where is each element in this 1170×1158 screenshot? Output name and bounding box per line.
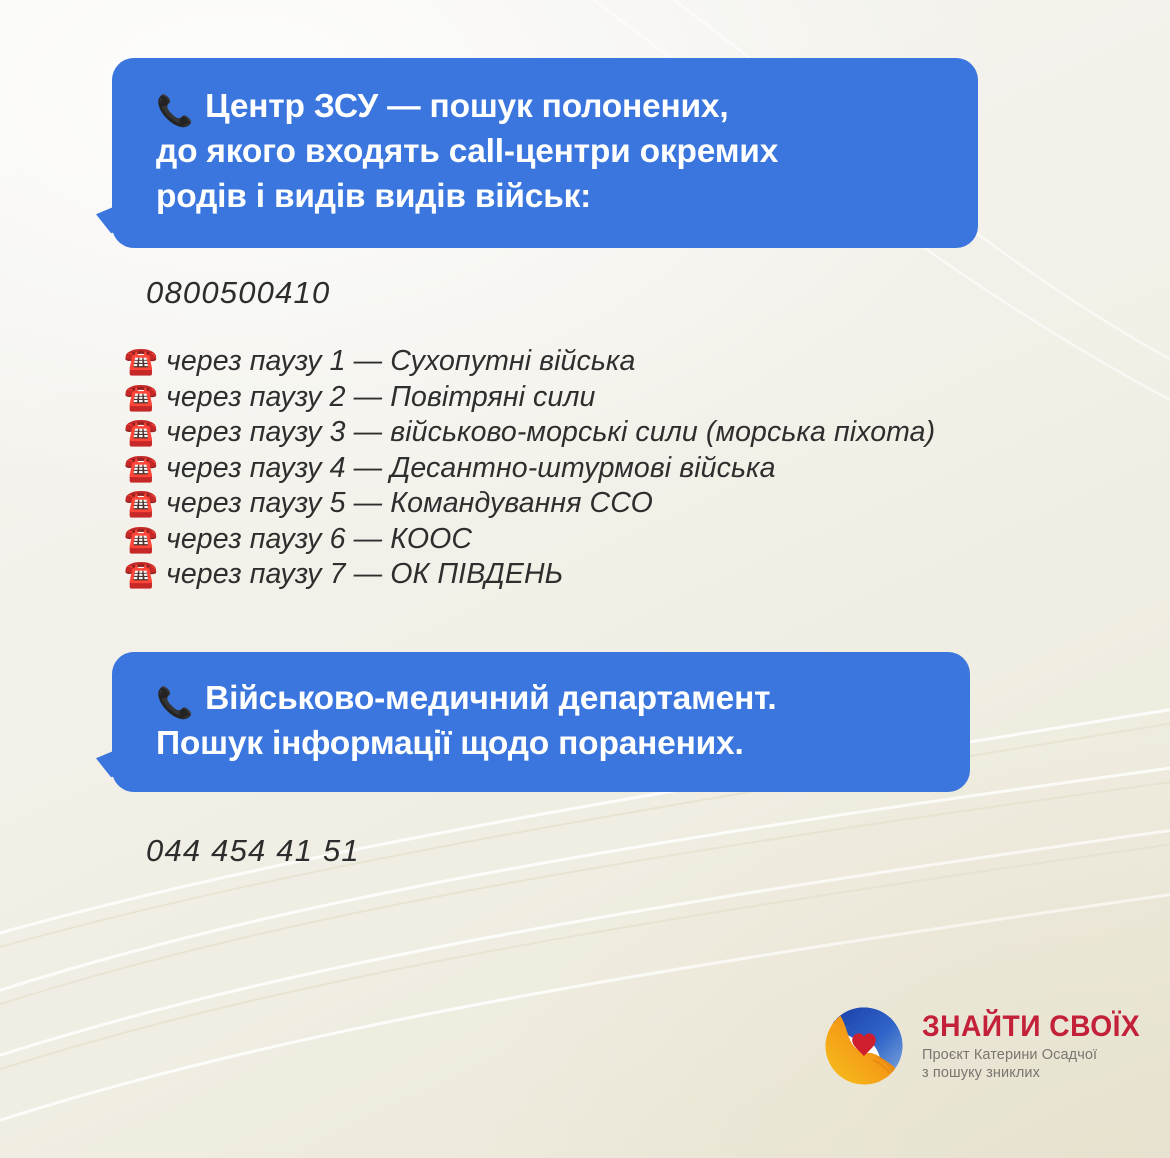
pause-extension-list: ☎️ через паузу 1 — Сухопутні війська ☎️ … [124, 344, 935, 593]
brand-title: ЗНАЙТИ СВОЇХ [922, 1012, 1140, 1042]
list-item-label: через паузу 7 — ОК ПІВДЕНЬ [166, 558, 563, 591]
bubble-2-line-1: 📞Військово-медичний департамент. [156, 676, 940, 721]
list-item-label: через паузу 6 — КООС [166, 523, 472, 556]
list-item: ☎️ через паузу 5 — Командування ССО [124, 486, 935, 522]
list-item-label: через паузу 1 — Сухопутні війська [166, 345, 635, 378]
list-item: ☎️ через паузу 2 — Повітряні сили [124, 380, 935, 416]
speech-bubble-medical-department: 📞Військово-медичний департамент. Пошук і… [112, 652, 970, 792]
hotline-number-primary[interactable]: 0800500410 [146, 275, 330, 311]
telephone-receiver-icon: 📞 [156, 97, 193, 127]
red-telephone-icon: ☎️ [124, 419, 158, 446]
red-telephone-icon: ☎️ [124, 526, 158, 553]
poster-canvas: 📞Центр ЗСУ — пошук полонених, до якого в… [0, 0, 1170, 1158]
red-telephone-icon: ☎️ [124, 561, 158, 588]
brand-subtitle-line-2: з пошуку зниклих [922, 1066, 1154, 1081]
list-item: ☎️ через паузу 1 — Сухопутні війська [124, 344, 935, 380]
bubble-1-text-2: до якого входять call-центри окремих [156, 129, 948, 174]
brand-logo-text: ЗНАЙТИ СВОЇХ Проєкт Катерини Осадчої з п… [922, 1012, 1154, 1080]
speech-bubble-prisoner-search: 📞Центр ЗСУ — пошук полонених, до якого в… [112, 58, 978, 248]
bubble-2-text-2: Пошук інформації щодо поранених. [156, 721, 940, 766]
list-item: ☎️ через паузу 4 — Десантно-штурмові вій… [124, 451, 935, 487]
brand-logo-lockup[interactable]: ЗНАЙТИ СВОЇХ Проєкт Катерини Осадчої з п… [822, 1004, 1154, 1088]
list-item-label: через паузу 5 — Командування ССО [166, 487, 653, 520]
red-telephone-icon: ☎️ [124, 348, 158, 375]
hands-heart-circle-icon [822, 1004, 906, 1088]
list-item-label: через паузу 4 — Десантно-штурмові військ… [166, 452, 776, 485]
bubble-1-line-1: 📞Центр ЗСУ — пошук полонених, [156, 84, 948, 129]
list-item-label: через паузу 3 — військово-морські сили (… [166, 416, 935, 449]
red-telephone-icon: ☎️ [124, 490, 158, 517]
list-item: ☎️ через паузу 6 — КООС [124, 522, 935, 558]
list-item-label: через паузу 2 — Повітряні сили [166, 381, 595, 414]
list-item: ☎️ через паузу 7 — ОК ПІВДЕНЬ [124, 557, 935, 593]
bubble-2-text-1: Військово-медичний департамент. [205, 680, 776, 717]
bubble-1-text-1: Центр ЗСУ — пошук полонених, [205, 88, 728, 125]
hotline-number-medical[interactable]: 044 454 41 51 [146, 833, 360, 869]
telephone-receiver-icon: 📞 [156, 689, 193, 719]
brand-subtitle-line-1: Проєкт Катерини Осадчої [922, 1048, 1154, 1063]
bubble-1-text-3: родів і видів видів військ: [156, 174, 948, 219]
red-telephone-icon: ☎️ [124, 455, 158, 482]
red-telephone-icon: ☎️ [124, 384, 158, 411]
list-item: ☎️ через паузу 3 — військово-морські сил… [124, 415, 935, 451]
